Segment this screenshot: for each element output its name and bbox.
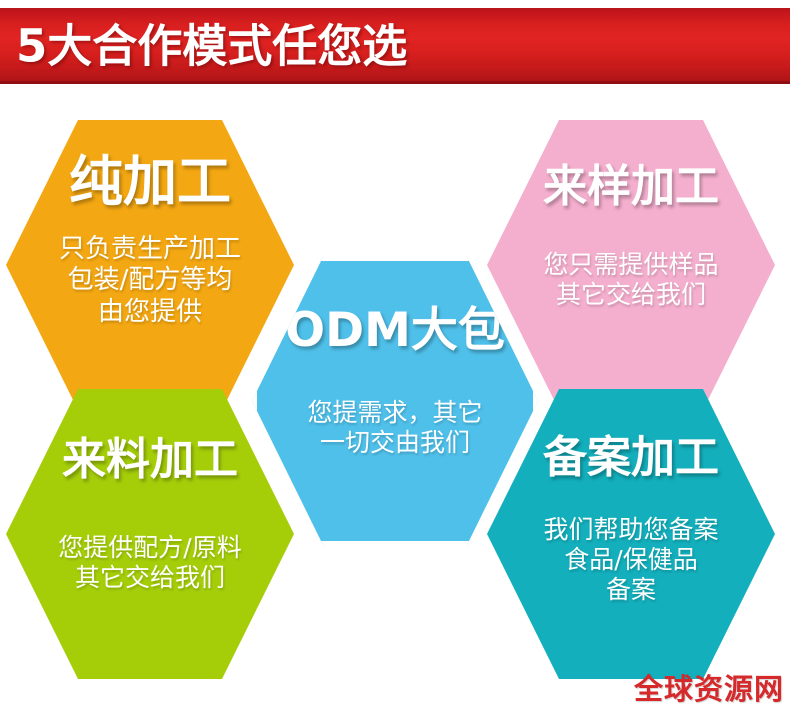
hexagon-sample-processing[interactable]: 来样加工 您只需提供样品 其它交给我们 [487,120,775,410]
hexagon-title-record-filing-processing: 备案加工 [543,435,719,481]
hexagon-body-odm-full-package: 您提需求，其它 一切交由我们 [307,398,482,458]
hexagon-title-material-processing: 来料加工 [62,437,238,483]
hexagon-body-sample-processing: 您只需提供样品 其它交给我们 [543,250,718,310]
page-title: 5大合作模式任您选 [16,24,407,69]
hexagon-title-pure-processing: 纯加工 [69,154,231,210]
hexagon-body-material-processing: 您提供配方/原料 其它交给我们 [58,533,241,593]
hexagon-record-filing-processing[interactable]: 备案加工 我们帮助您备案 食品/保健品 备案 [487,389,775,679]
hexagon-title-sample-processing: 来样加工 [543,164,719,210]
hexagon-material-processing[interactable]: 来料加工 您提供配方/原料 其它交给我们 [6,389,294,679]
hexagon-title-odm-full-package: ODM大包 [285,307,505,356]
site-watermark: 全球资源网 [634,675,784,704]
hexagon-grid: 纯加工 只负责生产加工 包装/配方等均 由您提供 来样加工 您只需提供样品 其它… [0,84,790,664]
header-banner: 5大合作模式任您选 [0,8,790,84]
hexagon-body-pure-processing: 只负责生产加工 包装/配方等均 由您提供 [59,234,241,328]
hexagon-odm-full-package[interactable]: ODM大包 您提需求，其它 一切交由我们 [252,256,538,546]
infographic-page: 5大合作模式任您选 纯加工 只负责生产加工 包装/配方等均 由您提供 来样加工 … [0,0,790,714]
hexagon-body-record-filing-processing: 我们帮助您备案 食品/保健品 备案 [543,515,718,605]
hexagon-pure-processing[interactable]: 纯加工 只负责生产加工 包装/配方等均 由您提供 [6,120,294,410]
